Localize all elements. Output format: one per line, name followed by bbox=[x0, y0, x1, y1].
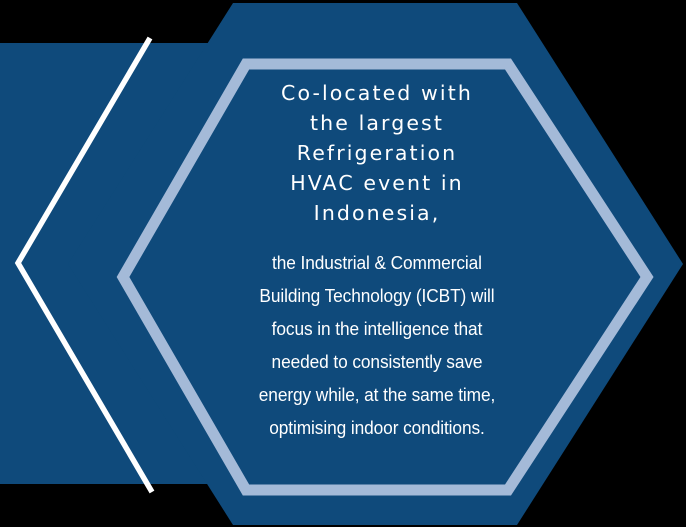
promo-banner: Co-located with the largest Refrigeratio… bbox=[0, 0, 686, 527]
banner-artwork bbox=[0, 0, 686, 527]
